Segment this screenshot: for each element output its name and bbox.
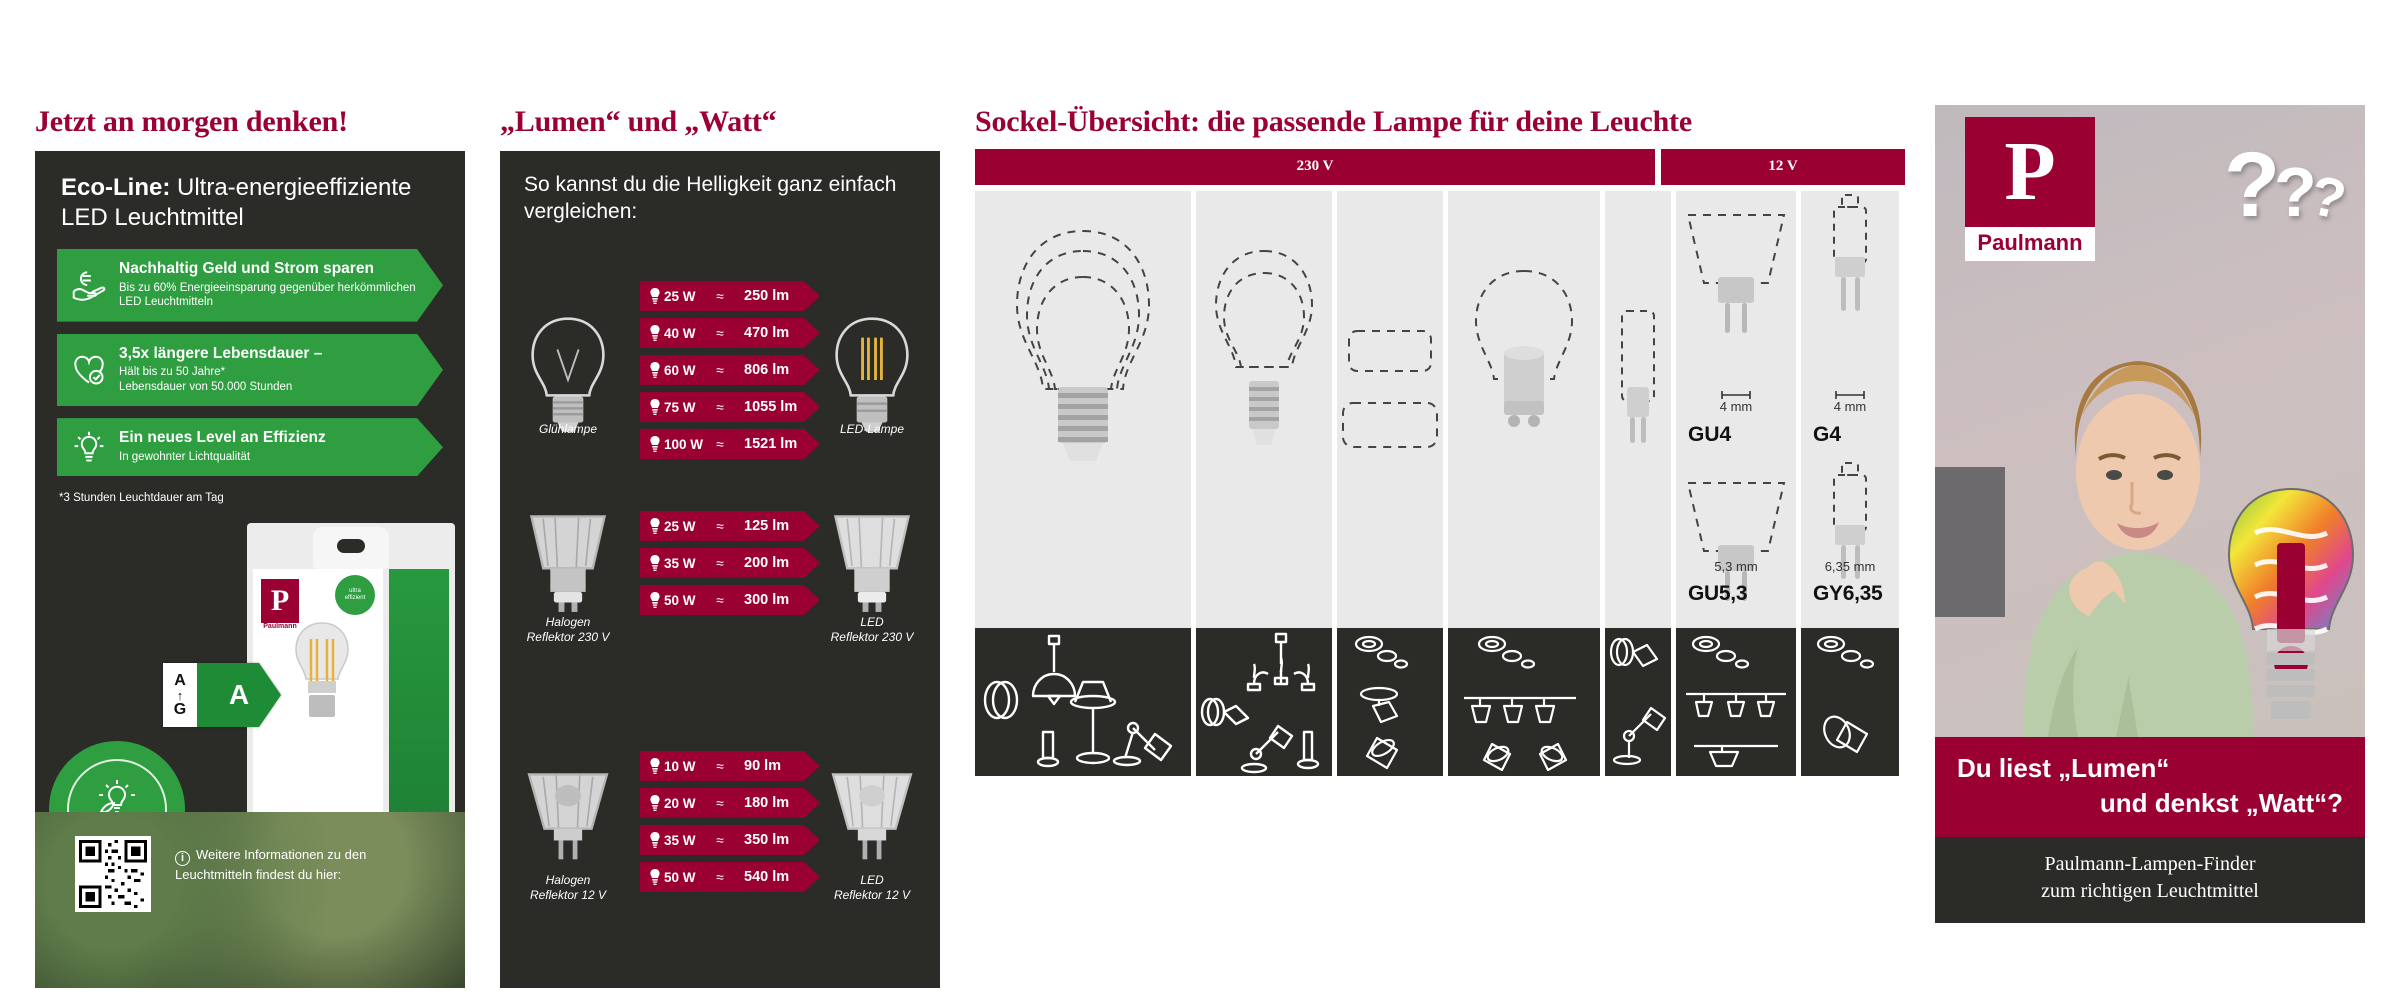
approx-sign: ≈ <box>710 436 730 452</box>
bulb-icon <box>649 592 661 608</box>
qr-note: iWeitere Informationen zu den Leuchtmitt… <box>175 846 366 884</box>
lumen-value: 350 lm <box>730 832 789 848</box>
lumen-value: 90 lm <box>730 758 781 774</box>
lumen-value: 300 lm <box>730 592 789 608</box>
socket-column-gy635[interactable]: 4 mmG46,35 mmGY6,35 <box>1801 191 1899 776</box>
lumen-value: 806 lm <box>730 362 789 378</box>
lumen-watt-group: Glühlampe25 W≈250 lm40 W≈470 lm60 W≈806 … <box>500 281 940 466</box>
halogen-reflector-230v-icon <box>522 507 614 611</box>
lumen-watt-row: 50 W≈300 lm <box>640 585 820 615</box>
benefit-item-savings: Nachhaltig Geld und Strom sparen Bis zu … <box>57 249 443 322</box>
socket-illustration-upper <box>1676 191 1796 391</box>
socket-column-e14[interactable]: 14 mmE14 <box>1196 191 1332 776</box>
lumen-watt-row: 100 W≈1521 lm <box>640 429 820 459</box>
benefit-sub: In gewohnter Lichtqualität <box>119 450 429 464</box>
energy-class-value: A <box>197 663 281 727</box>
socket-columns: 27 mmE2714 mmE14ø 51 mmCOIN10 mmGU109 mm… <box>975 191 1905 776</box>
luminaire-icons <box>1676 628 1796 776</box>
lumen-watt-row: 35 W≈200 lm <box>640 548 820 578</box>
led-filament-bulb-icon <box>826 314 918 418</box>
approx-sign: ≈ <box>710 758 730 774</box>
claim-line-1: Du liest „Lumen“ <box>1957 753 2343 784</box>
info-icon: i <box>175 851 190 866</box>
voltage-bar-12v: 12 V <box>1661 149 1905 185</box>
lumen-group-right-label: LED Reflektor 230 V <box>807 615 937 645</box>
luminaire-icons <box>1337 628 1443 776</box>
energy-scale-bottom: G <box>174 702 186 718</box>
colorful-bulb-graphic <box>2211 481 2365 731</box>
socket-column-e27[interactable]: 27 mmE27 <box>975 191 1191 776</box>
panel1-title: Jetzt an morgen denken! <box>35 105 465 139</box>
approx-sign: ≈ <box>710 362 730 378</box>
socket-column-gu10[interactable]: 10 mmGU10 <box>1448 191 1600 776</box>
socket-dimension: 6,35 mm <box>1801 559 1899 574</box>
socket-illustration <box>1605 191 1671 644</box>
panel1-headline-bold: Eco-Line: <box>61 174 170 201</box>
infographic-board: Jetzt an morgen denken! Eco-Line: Ultra-… <box>0 0 2400 1008</box>
benefit-heading: Nachhaltig Geld und Strom sparen <box>119 260 429 278</box>
lumen-group-left-label: Halogen Reflektor 12 V <box>503 873 633 903</box>
luminaire-icons <box>1196 628 1332 776</box>
luminaire-icons <box>975 628 1191 776</box>
hands-photo-strip: iWeitere Informationen zu den Leuchtmitt… <box>35 812 465 988</box>
qr-note-line2: Leuchtmitteln findest du hier: <box>175 867 341 882</box>
socket-dimension-upper: 4 mm <box>1801 399 1899 414</box>
panel3-title: Sockel-Übersicht: die passende Lampe für… <box>975 105 1905 139</box>
lumen-watt-row: 35 W≈350 lm <box>640 825 820 855</box>
energy-scale-top: A <box>174 673 186 689</box>
lumen-group-right-label: LED Reflektor 12 V <box>807 873 937 903</box>
benefit-sub: Bis zu 60% Energieeinsparung gegenüber h… <box>119 281 429 310</box>
approx-sign: ≈ <box>710 518 730 534</box>
energy-scale: A ↑ G <box>163 663 197 727</box>
lumen-watt-row: 60 W≈806 lm <box>640 355 820 385</box>
socket-dimension: 5,3 mm <box>1676 559 1796 574</box>
bulb-icon <box>649 555 661 571</box>
lumen-value: 125 lm <box>730 518 789 534</box>
lumen-value: 180 lm <box>730 795 789 811</box>
socket-illustration <box>1196 191 1332 644</box>
claim-banner: Du liest „Lumen“ und denkst „Watt“? <box>1935 737 2365 837</box>
approx-sign: ≈ <box>710 832 730 848</box>
lumen-watt-row: 50 W≈540 lm <box>640 862 820 892</box>
bulb-icon <box>649 436 661 452</box>
bulb-icon <box>649 832 661 848</box>
panel2-body: So kannst du die Helligkeit ganz einfach… <box>500 151 940 988</box>
package-hang-hole <box>337 539 365 553</box>
socket-name: GU5,3 <box>1688 582 1747 606</box>
benefit-sub: Hält bis zu 50 Jahre* Lebensdauer von 50… <box>119 365 429 394</box>
approx-sign: ≈ <box>710 592 730 608</box>
lumen-watt-row: 20 W≈180 lm <box>640 788 820 818</box>
socket-name-upper: G4 <box>1813 423 1841 447</box>
bulb-icon <box>649 399 661 415</box>
led-reflector-12v-icon <box>826 765 918 869</box>
panel1-footnote: *3 Stunden Leuchtdauer am Tag <box>59 492 465 504</box>
luminaire-icons <box>1605 628 1671 776</box>
panel1-body: Eco-Line: Ultra-energieeffiziente LED Le… <box>35 151 465 988</box>
lumen-value: 250 lm <box>730 288 789 304</box>
question-marks-graphic: ??? <box>2224 149 2339 223</box>
voltage-bar-230v: 230 V <box>975 149 1655 185</box>
approx-sign: ≈ <box>710 869 730 885</box>
lumen-watt-row: 10 W≈90 lm <box>640 751 820 781</box>
approx-sign: ≈ <box>710 555 730 571</box>
bulb-icon <box>649 325 661 341</box>
lumen-watt-row: 75 W≈1055 lm <box>640 392 820 422</box>
socket-illustration <box>1337 191 1443 644</box>
subclaim-line-1: Paulmann-Lampen-Finder <box>1945 851 2355 878</box>
lumen-watt-row: 40 W≈470 lm <box>640 318 820 348</box>
approx-sign: ≈ <box>710 288 730 304</box>
luminaire-icons <box>1448 628 1600 776</box>
voltage-bars: 230 V 12 V <box>975 149 1905 185</box>
bulb-icon <box>649 869 661 885</box>
panel-brand-claim: P Paulmann ??? <box>1935 105 2365 942</box>
lumen-group-right-label: LED-Lampe <box>807 422 937 437</box>
bulb-icon <box>649 362 661 378</box>
lumen-value: 470 lm <box>730 325 789 341</box>
socket-column-coin[interactable]: ø 51 mmCOIN <box>1337 191 1443 776</box>
bulb-icon <box>649 288 661 304</box>
paulmann-logo-mark: P <box>1965 117 2095 227</box>
socket-column-gu53[interactable]: 4 mmGU45,3 mmGU5,3 <box>1676 191 1796 776</box>
approx-sign: ≈ <box>710 325 730 341</box>
lumen-value: 200 lm <box>730 555 789 571</box>
lumen-value: 540 lm <box>730 869 789 885</box>
incandescent-bulb-icon <box>522 314 614 418</box>
claim-line-2: und denkst „Watt“? <box>1957 788 2343 819</box>
benefit-heading: 3,5x längere Lebensdauer – <box>119 345 429 363</box>
subclaim-banner: Paulmann-Lampen-Finder zum richtigen Leu… <box>1935 837 2365 923</box>
lumen-watt-row: 25 W≈250 lm <box>640 281 820 311</box>
benefit-item-efficiency: Ein neues Level an Effizienz In gewohnte… <box>57 418 443 476</box>
hand-euro-icon <box>71 267 107 303</box>
panel2-title: „Lumen“ und „Watt“ <box>500 105 940 139</box>
package-efficiency-badge: ultra effizient <box>335 575 375 615</box>
socket-illustration <box>975 191 1191 644</box>
socket-dimension-upper: 4 mm <box>1676 399 1796 414</box>
benefit-heading: Ein neues Level an Effizienz <box>119 429 429 447</box>
benefit-item-lifetime: 3,5x längere Lebensdauer – Hält bis zu 5… <box>57 334 443 407</box>
panel2-headline: So kannst du die Helligkeit ganz einfach… <box>500 151 940 226</box>
panel1-headline: Eco-Line: Ultra-energieeffiziente LED Le… <box>35 151 465 237</box>
lumen-watt-group: Halogen Reflektor 12 V10 W≈90 lm20 W≈180… <box>500 751 940 899</box>
paulmann-logo-wordmark: Paulmann <box>1965 227 2095 261</box>
bulb-leaf-icon <box>97 778 137 816</box>
panel-lumen-watt: „Lumen“ und „Watt“ So kannst du die Hell… <box>500 105 940 988</box>
socket-illustration-upper <box>1801 191 1899 391</box>
qr-note-line1: Weitere Informationen zu den <box>196 847 366 862</box>
lumen-group-left-label: Glühlampe <box>503 422 633 437</box>
led-reflector-230v-icon <box>826 507 918 611</box>
hero-photo: P Paulmann ??? <box>1935 105 2365 737</box>
lumen-value: 1055 lm <box>730 399 797 415</box>
approx-sign: ≈ <box>710 795 730 811</box>
bulb-icon <box>649 758 661 774</box>
qr-code[interactable] <box>75 836 151 912</box>
approx-sign: ≈ <box>710 399 730 415</box>
socket-illustration <box>1448 191 1600 644</box>
up-arrow-icon: ↑ <box>177 689 184 702</box>
lumen-watt-group: Halogen Reflektor 230 V25 W≈125 lm35 W≈2… <box>500 511 940 622</box>
socket-column-g9[interactable]: 9 mmG9 <box>1605 191 1671 776</box>
socket-name-upper: GU4 <box>1688 423 1731 447</box>
bulb-shine-icon <box>71 429 107 465</box>
subclaim-line-2: zum richtigen Leuchtmittel <box>1945 878 2355 905</box>
bulb-icon <box>649 518 661 534</box>
socket-name: GY6,35 <box>1813 582 1882 606</box>
lumen-watt-row: 25 W≈125 lm <box>640 511 820 541</box>
package-bulb-illustration <box>283 615 361 765</box>
lumen-value: 1521 lm <box>730 436 797 452</box>
lumen-group-left-label: Halogen Reflektor 230 V <box>503 615 633 645</box>
heart-check-icon <box>71 352 107 388</box>
luminaire-icons <box>1801 628 1899 776</box>
halogen-reflector-12v-icon <box>522 765 614 869</box>
panel-eco-line: Jetzt an morgen denken! Eco-Line: Ultra-… <box>35 105 465 988</box>
bulb-icon <box>649 795 661 811</box>
energy-label-badge: A ↑ G A <box>163 663 281 727</box>
panel-socket-overview: Sockel-Übersicht: die passende Lampe für… <box>975 105 1905 776</box>
